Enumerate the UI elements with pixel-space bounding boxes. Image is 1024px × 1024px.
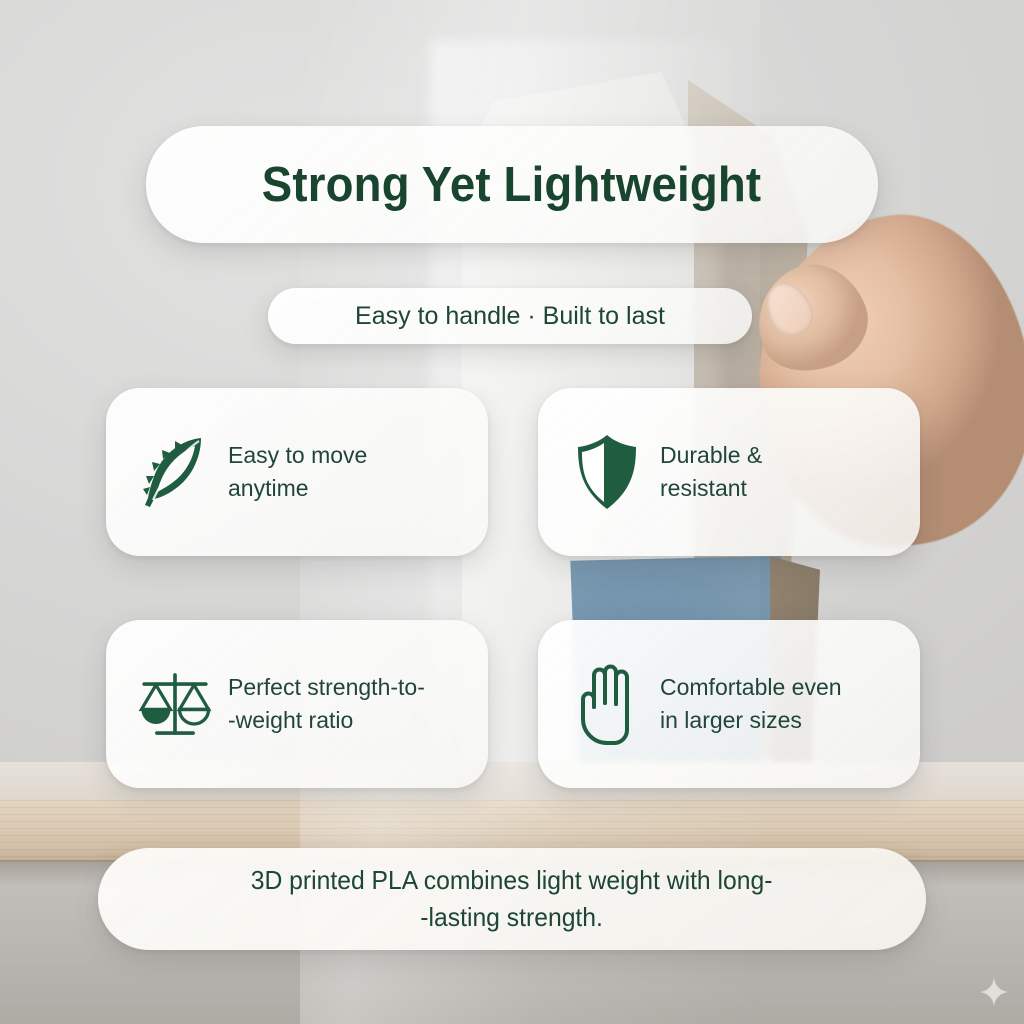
footer-line2: -lasting strength. [251, 899, 773, 936]
shield-icon [568, 429, 646, 515]
page-title: Strong Yet Lightweight [262, 157, 761, 213]
open-hand-icon [568, 661, 646, 747]
infographic-canvas: Strong Yet Lightweight Easy to handle · … [0, 0, 1024, 1024]
feature-card-strength-to-weight[interactable]: Perfect strength-to- -weight ratio [106, 620, 488, 788]
feature-label-line1: Comfortable even [660, 671, 842, 704]
feature-card-label: Comfortable even in larger sizes [660, 671, 842, 736]
page-subtitle: Easy to handle · Built to last [355, 302, 665, 331]
sparkle-icon [980, 978, 1008, 1006]
feature-label-line2: anytime [228, 472, 367, 505]
feature-card-durable-resistant[interactable]: Durable & resistant [538, 388, 920, 556]
feature-label-line1: Perfect strength-to- [228, 671, 425, 704]
title-banner: Strong Yet Lightweight [146, 126, 878, 243]
feature-label-line2: resistant [660, 472, 762, 505]
feature-label-line2: -weight ratio [228, 704, 425, 737]
feature-card-easy-to-move[interactable]: Easy to move anytime [106, 388, 488, 556]
footer-banner: 3D printed PLA combines light weight wit… [98, 848, 926, 950]
balance-scale-icon [136, 661, 214, 747]
feature-label-line2: in larger sizes [660, 704, 842, 737]
subtitle-pill: Easy to handle · Built to last [268, 288, 752, 344]
feature-card-label: Easy to move anytime [228, 439, 367, 504]
feather-icon [136, 429, 214, 515]
feature-label-line1: Easy to move [228, 439, 367, 472]
feature-label-line1: Durable & [660, 439, 762, 472]
feature-card-comfortable-larger-sizes[interactable]: Comfortable even in larger sizes [538, 620, 920, 788]
footer-line1: 3D printed PLA combines light weight wit… [251, 862, 773, 899]
feature-card-label: Durable & resistant [660, 439, 762, 504]
feature-card-label: Perfect strength-to- -weight ratio [228, 671, 425, 736]
footer-text: 3D printed PLA combines light weight wit… [251, 862, 773, 936]
